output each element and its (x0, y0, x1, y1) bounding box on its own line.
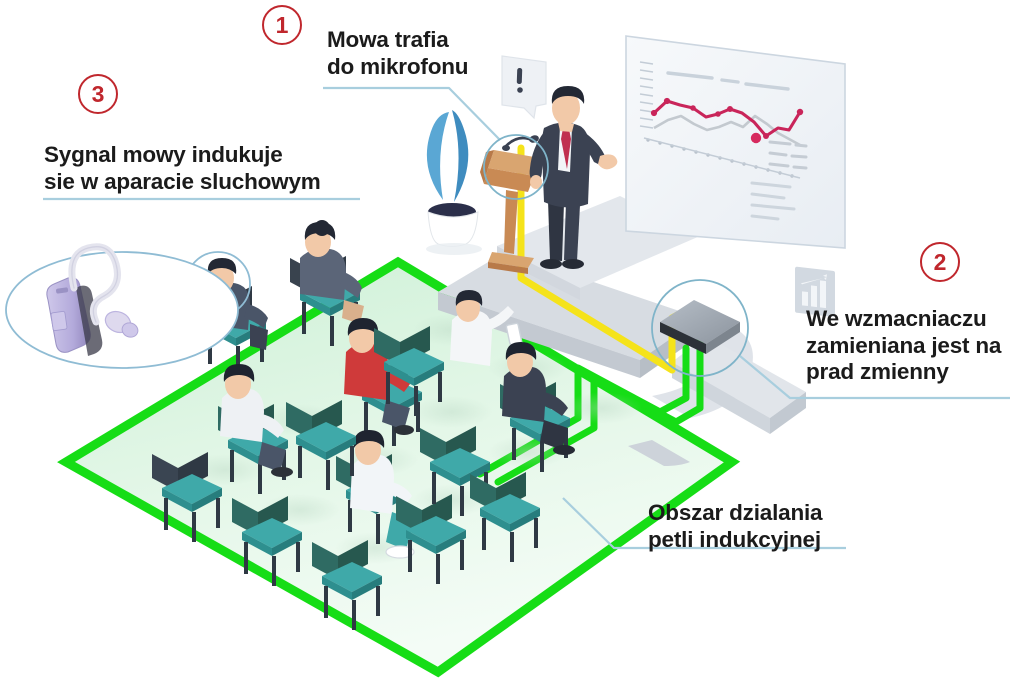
callout-label-hearing-aid: Sygnal mowy indukuje sie w aparacie sluc… (44, 142, 321, 195)
speech-bubble-exclamation (502, 56, 546, 118)
callout-label-loop-area: Obszar dzialania petli indukcyjnej (648, 500, 822, 553)
callout-number-3: 3 (78, 74, 118, 114)
hair-bun (314, 220, 330, 236)
hearing-aid-button (51, 311, 67, 331)
plant-pot (428, 212, 478, 247)
callout-number-1: 1 (262, 5, 302, 45)
presenter-hand (598, 154, 617, 169)
callout-number-2: 2 (920, 242, 960, 282)
infographic-canvas: 1 2 3 Mowa trafia do mikrofonu Sygnal mo… (0, 0, 1024, 687)
magnifier-lens (6, 252, 238, 368)
screen-legend-marker (751, 133, 761, 143)
callout-label-microphone: Mowa trafia do mikrofonu (327, 27, 468, 80)
callout-label-amplifier: We wzmacniaczu zamieniana jest na prad z… (806, 306, 1001, 386)
potted-plant (426, 110, 482, 255)
